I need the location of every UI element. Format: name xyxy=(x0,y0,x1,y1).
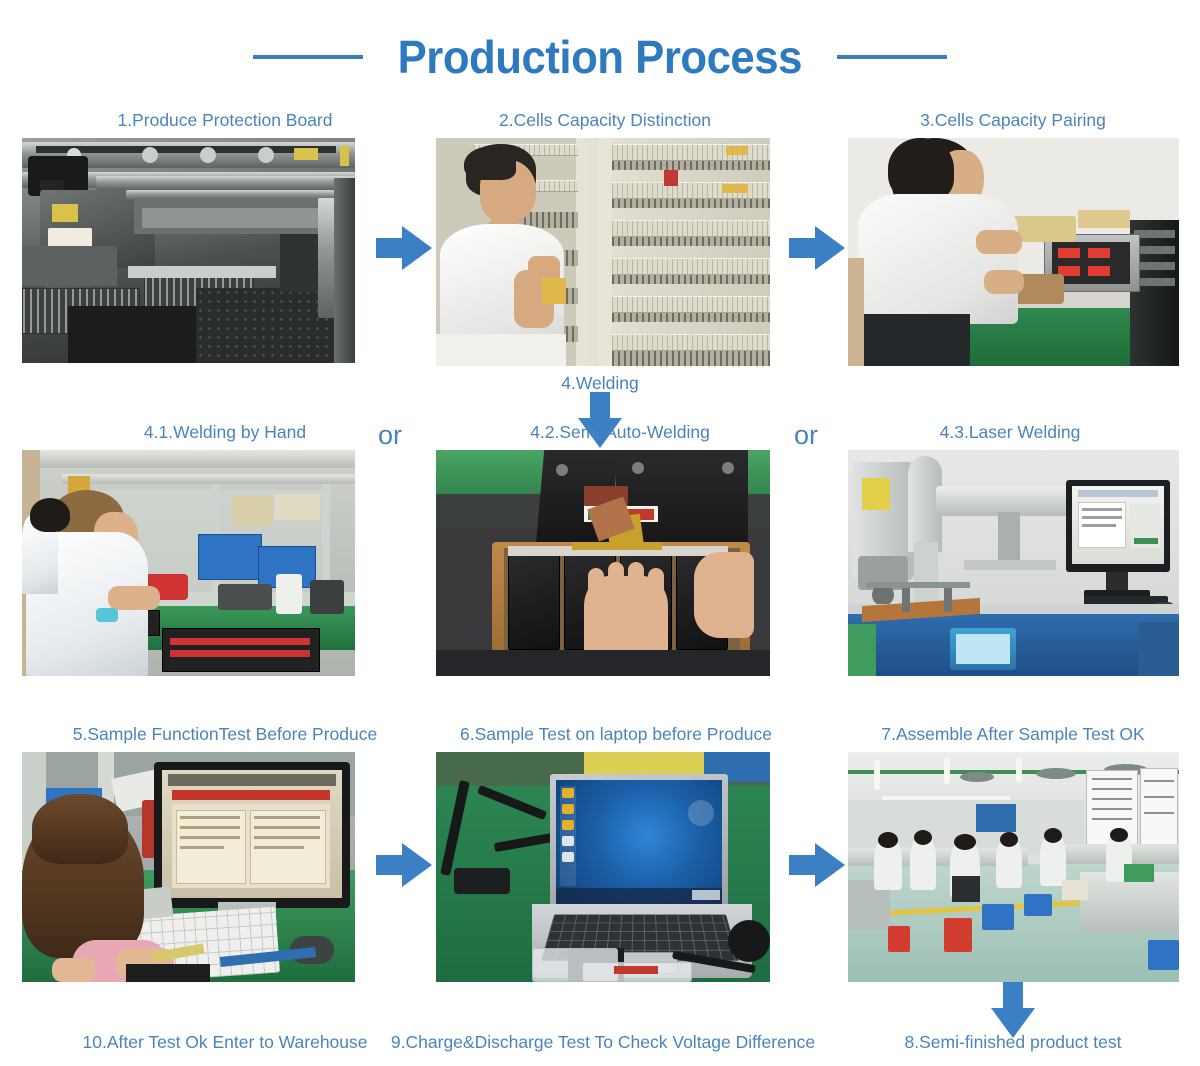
or-connector-left: or xyxy=(378,420,402,451)
caption-step-10: 10.After Test Ok Enter to Warehouse xyxy=(25,1032,425,1052)
caption-step-4-1: 4.1.Welding by Hand xyxy=(25,422,425,442)
arrow-right-icon-6-to-7 xyxy=(789,843,845,887)
arrow-right-icon-5-to-6 xyxy=(376,843,432,887)
caption-step-9: 9.Charge&Discharge Test To Check Voltage… xyxy=(388,1032,818,1052)
caption-step-1: 1.Produce Protection Board xyxy=(25,110,425,130)
production-process-infographic: Production Process 1.Produce Protection … xyxy=(0,0,1200,1066)
arrow-right-icon-2-to-3 xyxy=(789,226,845,270)
photo-sample-function-test xyxy=(22,752,355,982)
title-rule-right xyxy=(837,55,947,59)
or-connector-right: or xyxy=(794,420,818,451)
caption-step-7: 7.Assemble After Sample Test OK xyxy=(848,724,1178,744)
caption-step-6: 6.Sample Test on laptop before Produce xyxy=(436,724,796,744)
caption-step-4: 4.Welding xyxy=(500,373,700,393)
arrow-down-icon-7-to-8 xyxy=(991,982,1035,1034)
caption-step-8: 8.Semi-finished product test xyxy=(848,1032,1178,1052)
photo-semi-auto-welding xyxy=(436,450,770,676)
photo-assembly-after-sample-test xyxy=(848,752,1179,982)
caption-step-5: 5.Sample FunctionTest Before Produce xyxy=(25,724,425,744)
photo-welding-by-hand xyxy=(22,450,355,676)
photo-cells-capacity-pairing xyxy=(848,138,1179,366)
caption-step-4-2: 4.2.Semi-Auto-Welding xyxy=(450,422,790,442)
photo-cells-capacity-distinction xyxy=(436,138,770,366)
arrow-right-icon-1-to-2 xyxy=(376,226,432,270)
photo-laser-welding xyxy=(848,450,1179,676)
page-header: Production Process xyxy=(0,22,1200,92)
caption-step-3: 3.Cells Capacity Pairing xyxy=(848,110,1178,130)
caption-step-4-3: 4.3.Laser Welding xyxy=(860,422,1160,442)
caption-step-2: 2.Cells Capacity Distinction xyxy=(435,110,775,130)
page-title: Production Process xyxy=(398,30,802,84)
photo-produce-protection-board xyxy=(22,138,355,363)
title-rule-left xyxy=(253,55,363,59)
photo-sample-test-on-laptop xyxy=(436,752,770,982)
